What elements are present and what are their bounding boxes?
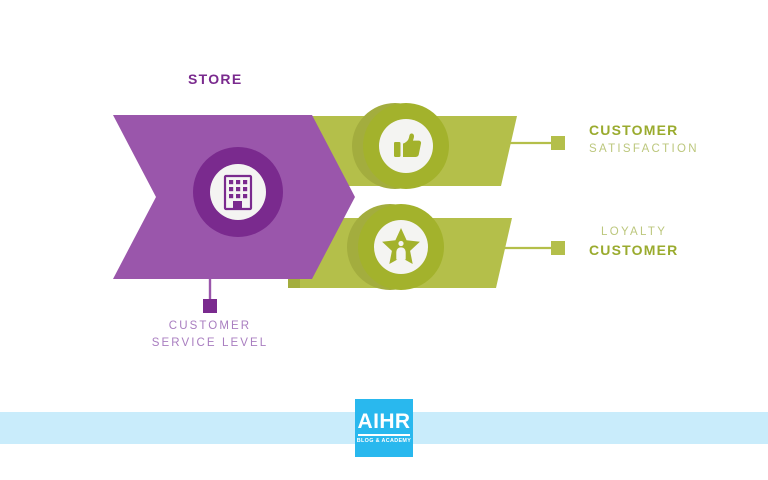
label-service-level: CUSTOMER SERVICE LEVEL <box>110 318 310 351</box>
label-service-level-line1: CUSTOMER <box>110 318 310 335</box>
infographic-canvas: STORE CUSTOMER SERVICE LEVEL CUSTOMER SA… <box>0 0 768 480</box>
label-loyalty-light: LOYALTY <box>601 226 678 238</box>
label-customer-satisfaction: CUSTOMER SATISFACTION <box>589 123 699 155</box>
label-satisfaction-strong: CUSTOMER <box>589 123 699 138</box>
connector-satisfaction <box>509 136 565 150</box>
aihr-logo-wordmark: AIHR <box>358 411 411 436</box>
store-node-inner <box>210 164 266 220</box>
connector-service-level <box>203 279 217 313</box>
connector-loyalty <box>503 241 565 255</box>
label-satisfaction-light: SATISFACTION <box>589 143 699 155</box>
store-node <box>193 147 283 237</box>
marker-satisfaction <box>551 136 565 150</box>
node-satisfaction <box>352 103 449 189</box>
label-loyalty-strong: CUSTOMER <box>589 243 678 258</box>
page-title: STORE <box>188 72 242 87</box>
marker-loyalty <box>551 241 565 255</box>
label-service-level-line2: SERVICE LEVEL <box>110 335 310 352</box>
label-customer-loyalty: LOYALTY CUSTOMER <box>589 226 678 258</box>
node-loyalty <box>347 204 444 290</box>
marker-service-level <box>203 299 217 313</box>
aihr-logo: AIHR BLOG & ACADEMY <box>355 399 413 457</box>
aihr-logo-tagline: BLOG & ACADEMY <box>357 439 411 444</box>
